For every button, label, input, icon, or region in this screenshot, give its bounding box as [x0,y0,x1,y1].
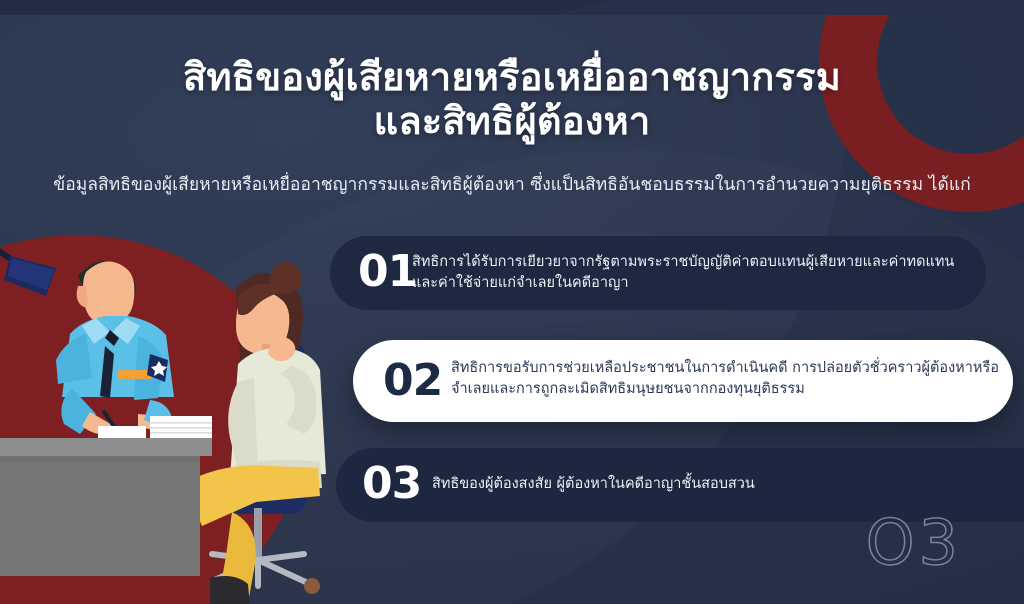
page-title-line1: สิทธิของผู้เสียหายหรือเหยื่ออาชญากรรม [183,55,841,99]
list-item-03-text: สิทธิของผู้ต้องสงสัย ผู้ต้องหาในคดีอาญาช… [432,474,992,495]
list-item-01-number: 01 [358,250,417,294]
list-item-02-text: สิทธิการขอรับการช่วยเหลือประชาชนในการดำเ… [451,358,999,400]
list-item-03-number: 03 [362,462,421,506]
page-title-line2: และสิทธิผู้ต้องหา [0,99,1024,143]
list-item-01[interactable]: 01 สิทธิการได้รับการเยียวยาจากรัฐตามพระร… [330,236,986,310]
top-edge-band [0,0,1024,15]
rights-list: 01 สิทธิการได้รับการเยียวยาจากรัฐตามพระร… [0,236,1024,536]
list-item-01-text: สิทธิการได้รับการเยียวยาจากรัฐตามพระราชบ… [412,252,972,294]
page-number-watermark: O3 [866,512,962,574]
list-item-02-number: 02 [383,359,442,403]
page-title: สิทธิของผู้เสียหายหรือเหยื่ออาชญากรรม แล… [0,55,1024,143]
list-item-02[interactable]: 02 สิทธิการขอรับการช่วยเหลือประชาชนในการ… [353,340,1013,422]
page-subtitle: ข้อมูลสิทธิของผู้เสียหายหรือเหยื่ออาชญาก… [0,173,1024,197]
slide-canvas: สิทธิของผู้เสียหายหรือเหยื่ออาชญากรรม แล… [0,0,1024,604]
